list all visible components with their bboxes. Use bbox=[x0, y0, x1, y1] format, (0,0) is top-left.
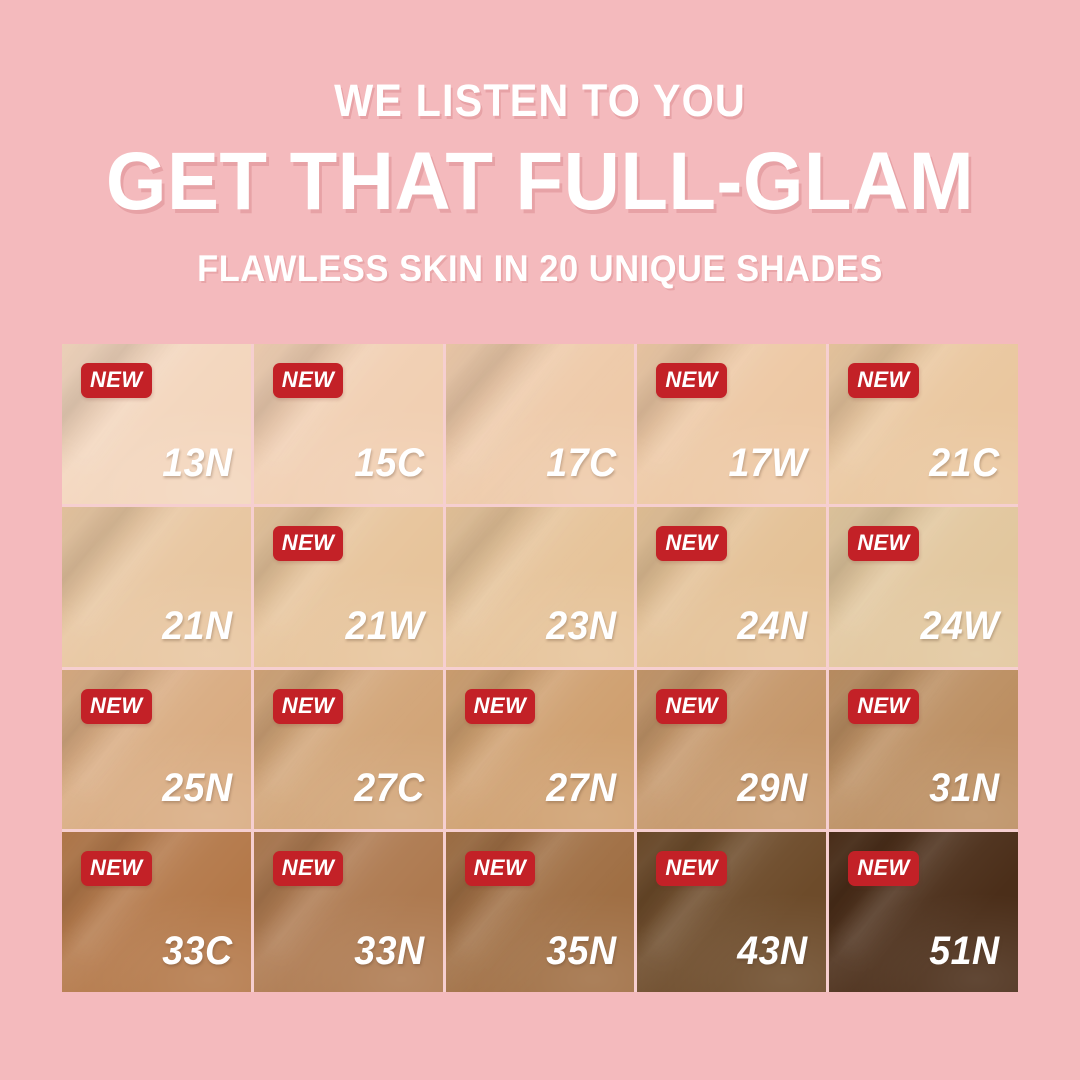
new-badge: NEW bbox=[848, 851, 919, 886]
new-badge: NEW bbox=[465, 689, 536, 724]
shade-swatch[interactable]: NEW35N bbox=[446, 832, 635, 992]
shade-swatch[interactable]: NEW21C bbox=[829, 344, 1018, 504]
shade-code-label: 24N bbox=[738, 606, 808, 646]
new-badge: NEW bbox=[656, 689, 727, 724]
shade-code-label: 17W bbox=[729, 443, 808, 483]
shade-swatch[interactable]: 17C bbox=[446, 344, 635, 504]
shade-code-label: 43N bbox=[738, 931, 808, 971]
shade-swatch[interactable]: NEW43N bbox=[637, 832, 826, 992]
subtitle-text: FLAWLESS SKIN IN 20 UNIQUE SHADES bbox=[38, 250, 1042, 287]
shade-code-label: 21C bbox=[929, 443, 999, 483]
shade-code-label: 29N bbox=[738, 768, 808, 808]
new-badge: NEW bbox=[848, 526, 919, 561]
shade-code-label: 27N bbox=[546, 768, 616, 808]
shade-swatch[interactable]: NEW51N bbox=[829, 832, 1018, 992]
shade-swatch[interactable]: NEW24N bbox=[637, 507, 826, 667]
shade-swatch[interactable]: NEW25N bbox=[62, 670, 251, 830]
shade-code-label: 35N bbox=[546, 931, 616, 971]
shade-code-label: 24W bbox=[921, 606, 1000, 646]
new-badge: NEW bbox=[273, 851, 344, 886]
eyebrow-text: WE LISTEN TO YOU bbox=[43, 78, 1037, 124]
page-title: GET THAT FULL-GLAM bbox=[27, 141, 1053, 223]
shade-swatch[interactable]: NEW27N bbox=[446, 670, 635, 830]
shade-swatch[interactable]: NEW21W bbox=[254, 507, 443, 667]
new-badge: NEW bbox=[273, 689, 344, 724]
shade-swatch[interactable]: NEW15C bbox=[254, 344, 443, 504]
shade-code-label: 23N bbox=[546, 606, 616, 646]
shade-swatch[interactable]: NEW33C bbox=[62, 832, 251, 992]
shade-code-label: 31N bbox=[929, 768, 999, 808]
new-badge: NEW bbox=[656, 851, 727, 886]
new-badge: NEW bbox=[848, 689, 919, 724]
new-badge: NEW bbox=[81, 689, 152, 724]
shade-swatch[interactable]: NEW17W bbox=[637, 344, 826, 504]
shade-swatch[interactable]: NEW27C bbox=[254, 670, 443, 830]
shade-swatch[interactable]: NEW31N bbox=[829, 670, 1018, 830]
new-badge: NEW bbox=[656, 363, 727, 398]
shade-swatch-grid: NEW13NNEW15C17CNEW17WNEW21C21NNEW21W23NN… bbox=[62, 344, 1018, 992]
shade-code-label: 27C bbox=[354, 768, 424, 808]
new-badge: NEW bbox=[273, 363, 344, 398]
shade-swatch[interactable]: 23N bbox=[446, 507, 635, 667]
shade-code-label: 13N bbox=[162, 443, 232, 483]
shade-swatch[interactable]: NEW33N bbox=[254, 832, 443, 992]
shade-code-label: 21W bbox=[345, 606, 424, 646]
shade-swatch[interactable]: 21N bbox=[62, 507, 251, 667]
shade-code-label: 33C bbox=[162, 931, 232, 971]
shade-code-label: 33N bbox=[354, 931, 424, 971]
shade-swatch[interactable]: NEW24W bbox=[829, 507, 1018, 667]
new-badge: NEW bbox=[273, 526, 344, 561]
new-badge: NEW bbox=[656, 526, 727, 561]
shade-code-label: 25N bbox=[162, 768, 232, 808]
shade-code-label: 21N bbox=[162, 606, 232, 646]
shade-swatch[interactable]: NEW29N bbox=[637, 670, 826, 830]
shade-code-label: 15C bbox=[354, 443, 424, 483]
headline-block: WE LISTEN TO YOU GET THAT FULL-GLAM FLAW… bbox=[0, 78, 1080, 287]
shade-code-label: 51N bbox=[929, 931, 999, 971]
shade-swatch[interactable]: NEW13N bbox=[62, 344, 251, 504]
shade-range-promo-poster: WE LISTEN TO YOU GET THAT FULL-GLAM FLAW… bbox=[0, 0, 1080, 1080]
new-badge: NEW bbox=[81, 851, 152, 886]
shade-code-label: 17C bbox=[546, 443, 616, 483]
new-badge: NEW bbox=[81, 363, 152, 398]
new-badge: NEW bbox=[848, 363, 919, 398]
new-badge: NEW bbox=[465, 851, 536, 886]
